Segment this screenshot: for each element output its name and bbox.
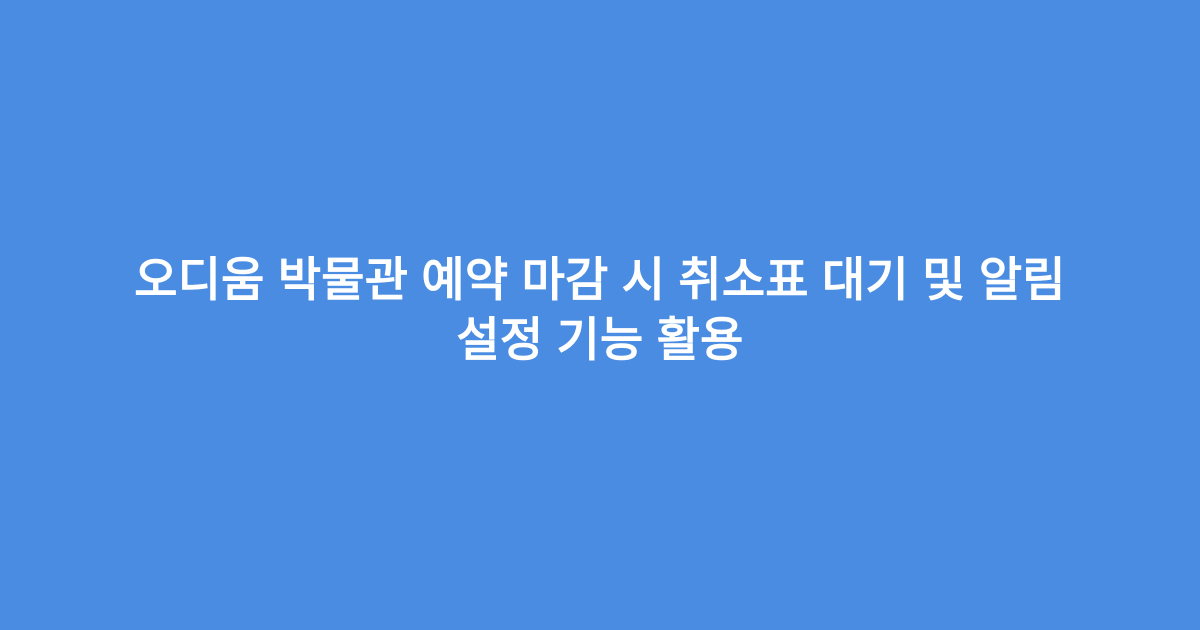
og-share-card: 오디움 박물관 예약 마감 시 취소표 대기 및 알림 설정 기능 활용 [0,0,1200,630]
headline-block: 오디움 박물관 예약 마감 시 취소표 대기 및 알림 설정 기능 활용 [85,250,1115,370]
page-title: 오디움 박물관 예약 마감 시 취소표 대기 및 알림 설정 기능 활용 [95,250,1105,370]
